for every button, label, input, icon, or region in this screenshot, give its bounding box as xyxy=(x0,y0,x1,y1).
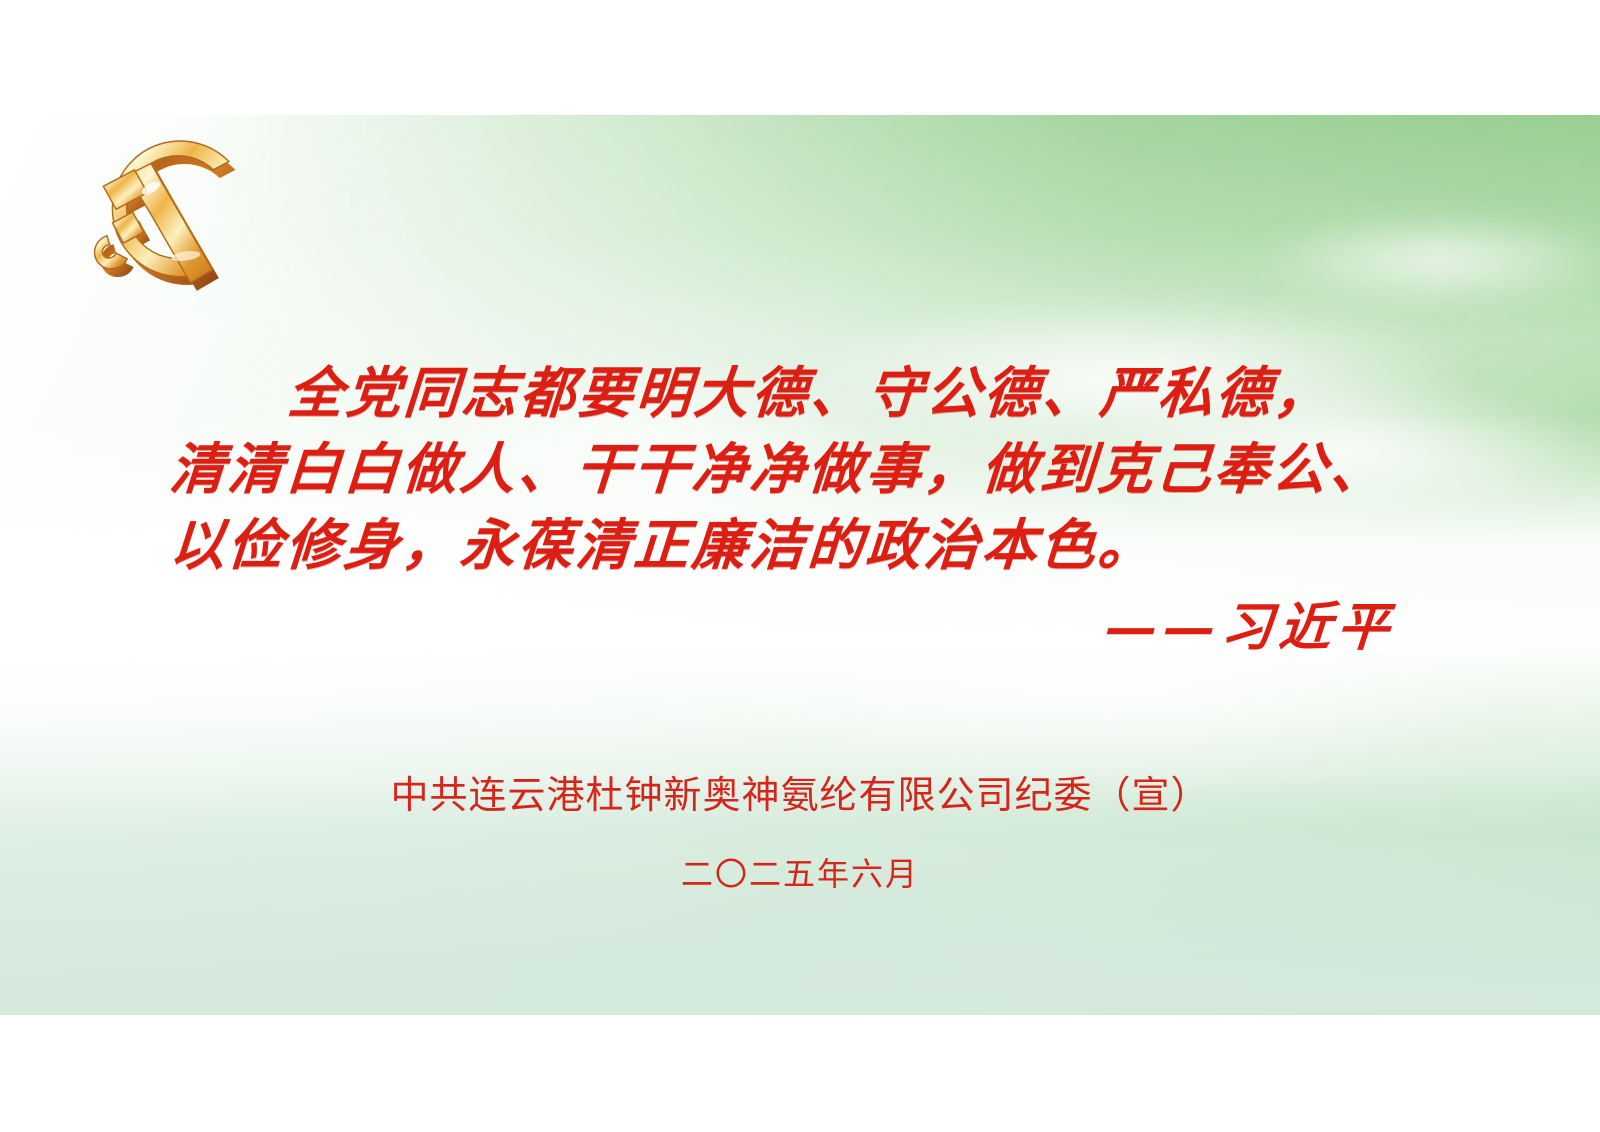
quote-line-3: 以俭修身，永葆清正廉洁的政治本色。 xyxy=(167,507,1407,583)
quote-line-1: 全党同志都要明大德、守公德、严私德， xyxy=(167,355,1407,431)
cpc-hammer-sickle-icon xyxy=(75,135,260,300)
poster-page: 全党同志都要明大德、守公德、严私德， 清清白白做人、干干净净做事，做到克己奉公、… xyxy=(0,0,1600,1132)
quote-attribution: ——习近平 xyxy=(167,583,1408,673)
quote-line-2: 清清白白做人、干干净净做事，做到克己奉公、 xyxy=(167,431,1407,507)
issue-date: 二〇二五年六月 xyxy=(0,852,1600,896)
issuing-organization: 中共连云港杜钟新奥神氨纶有限公司纪委（宣） xyxy=(0,770,1600,822)
poster-canvas: 全党同志都要明大德、守公德、严私德， 清清白白做人、干干净净做事，做到克己奉公、… xyxy=(0,115,1600,1015)
quote-block: 全党同志都要明大德、守公德、严私德， 清清白白做人、干干净净做事，做到克己奉公、… xyxy=(170,355,1405,673)
footer-block: 中共连云港杜钟新奥神氨纶有限公司纪委（宣） 二〇二五年六月 xyxy=(0,770,1600,896)
